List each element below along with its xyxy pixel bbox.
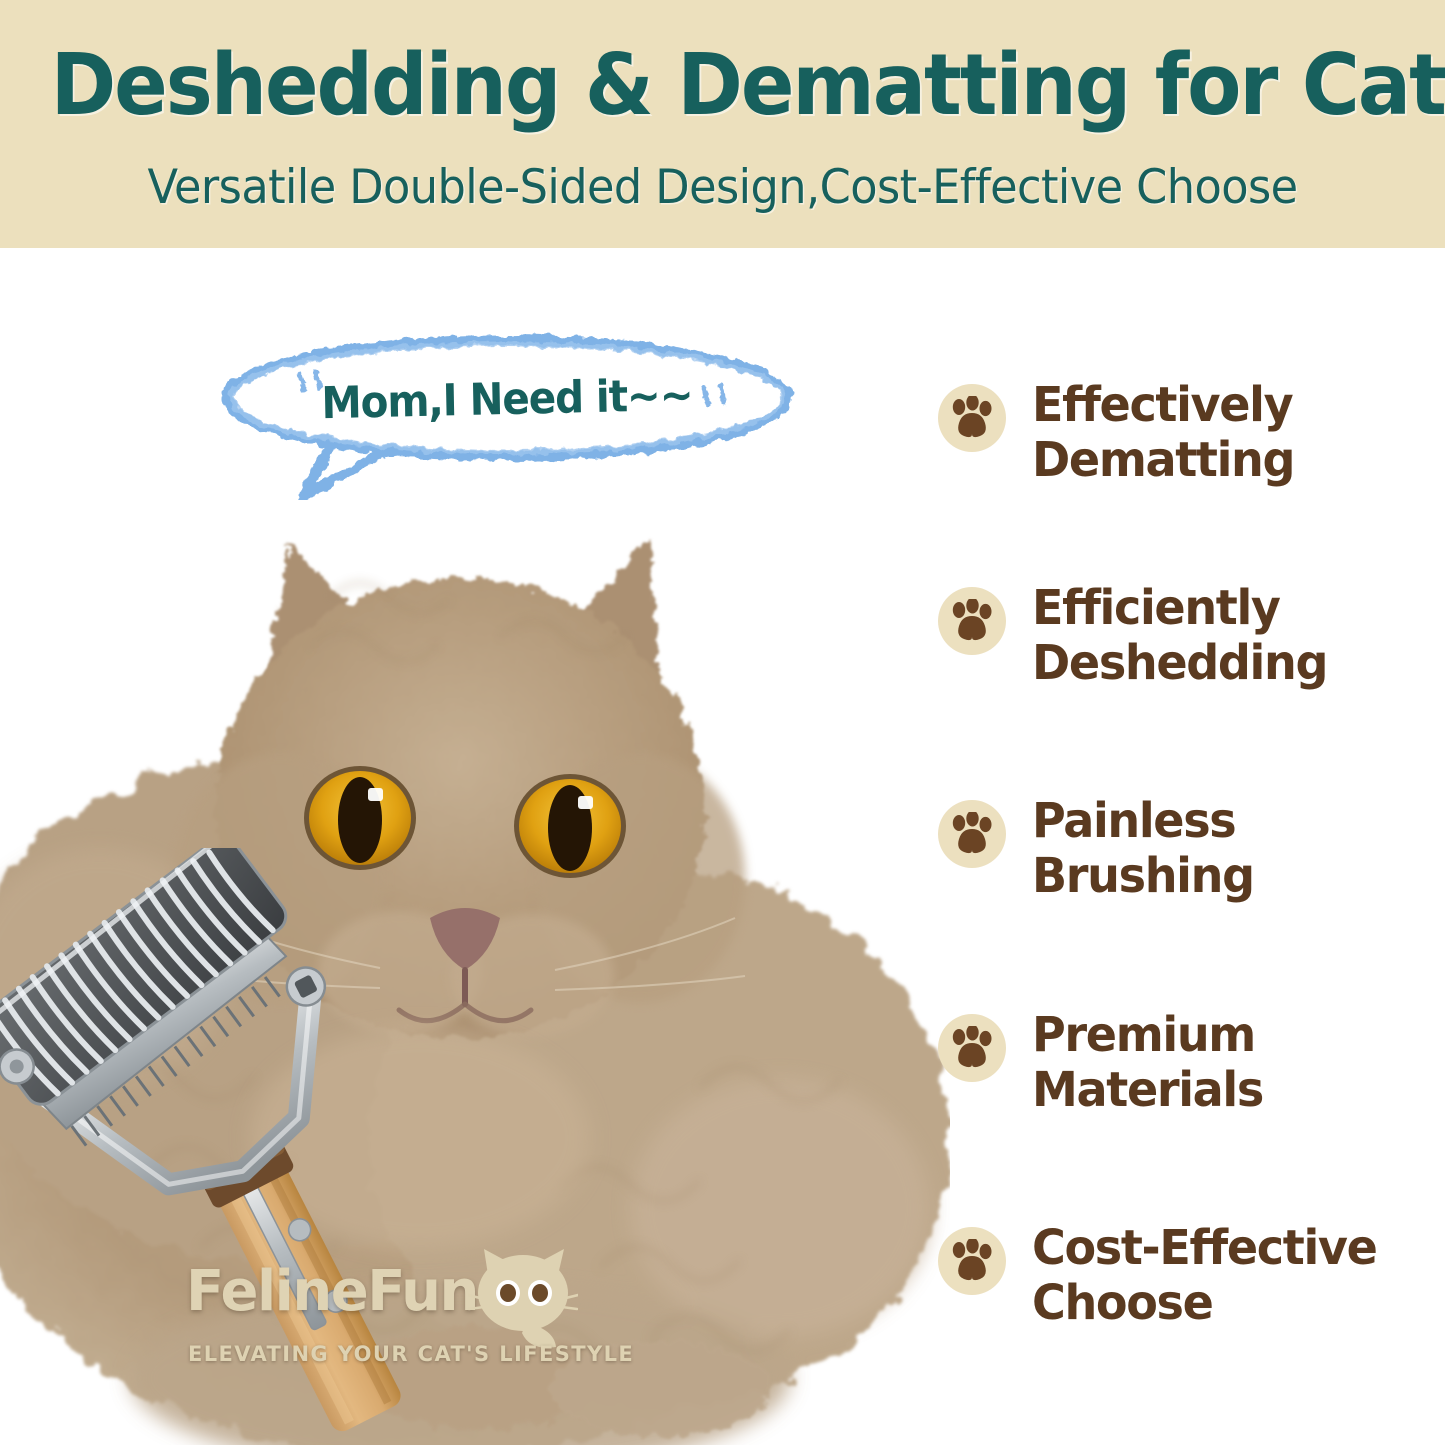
feature-item-premium-materials: Premium Materials (938, 1008, 1438, 1118)
paw-print-icon (938, 1014, 1006, 1082)
cat-head-mascot-icon (468, 1241, 578, 1353)
header-band: Deshedding & Dematting for Cats Versatil… (0, 0, 1445, 248)
feature-label: Premium Materials (1032, 1008, 1263, 1118)
main-content: FelineFun (0, 248, 1445, 1445)
product-infographic: Deshedding & Dematting for Cats Versatil… (0, 0, 1445, 1445)
brand-logo: FelineFun (186, 1253, 586, 1398)
feature-list: Effectively Dematting Efficiently Deshed… (938, 378, 1438, 1398)
paw-print-icon (938, 384, 1006, 452)
feature-label: Cost-Effective Choose (1032, 1221, 1377, 1331)
feature-label: Effectively Dematting (1032, 378, 1294, 488)
paw-print-icon (938, 800, 1006, 868)
brand-tagline: ELEVATING YOUR CAT'S LIFESTYLE (188, 1341, 498, 1367)
brand-name: FelineFun (186, 1261, 478, 1323)
feature-item-painless-brushing: Painless Brushing (938, 794, 1438, 904)
feature-label: Painless Brushing (1032, 794, 1254, 904)
speech-bubble: Mom,I Need it~~ (212, 330, 802, 500)
page-title: Deshedding & Dematting for Cats (51, 38, 1395, 134)
paw-print-icon (938, 1227, 1006, 1295)
feature-label: Efficiently Deshedding (1032, 581, 1327, 691)
feature-item-cost-effective: Cost-Effective Choose (938, 1221, 1438, 1331)
feature-item-deshedding: Efficiently Deshedding (938, 581, 1438, 691)
page-subtitle: Versatile Double-Sided Design,Cost-Effec… (36, 160, 1409, 216)
paw-print-icon (938, 587, 1006, 655)
feature-item-dematting: Effectively Dematting (938, 378, 1438, 488)
